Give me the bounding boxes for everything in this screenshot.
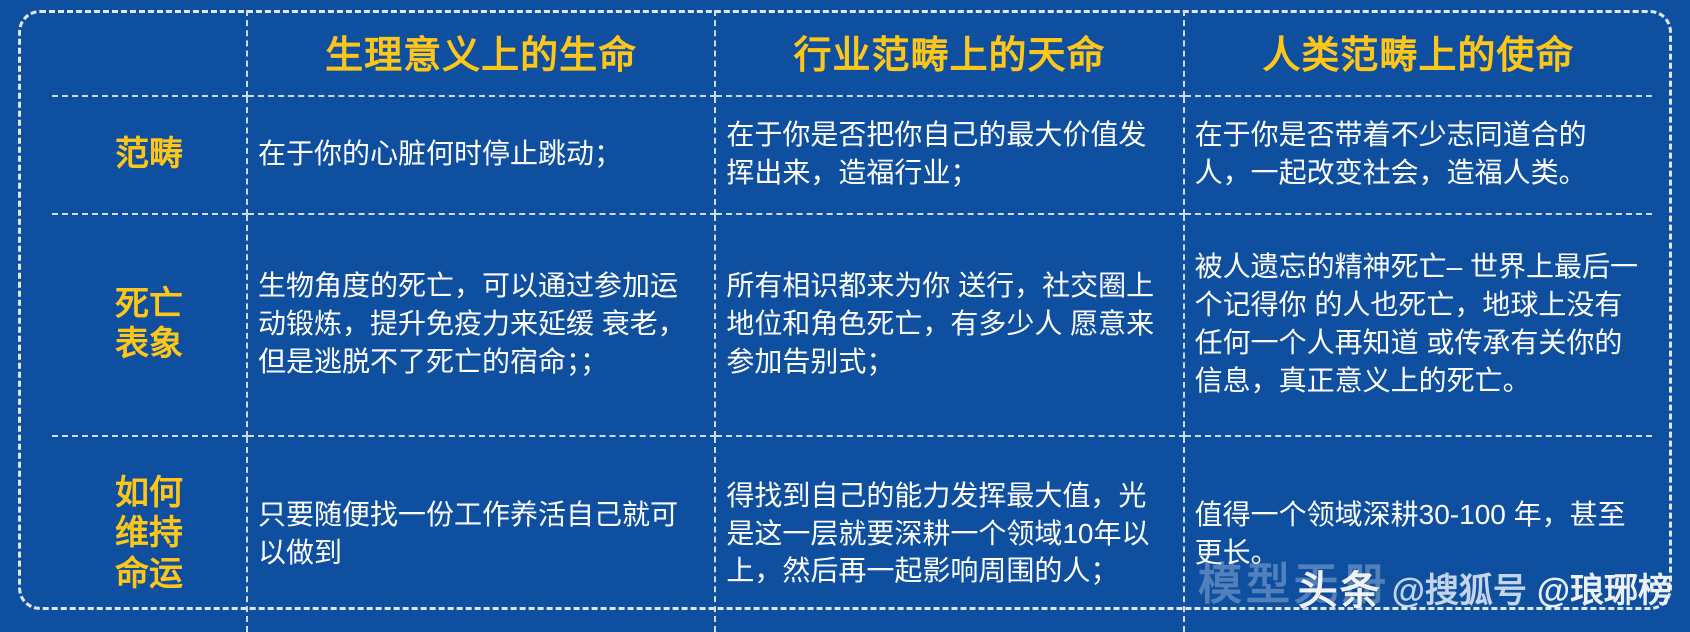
cell-scope-human: 在于你是否带着不少志同道合的人，一起改变社会，造福人类。 <box>1184 96 1652 214</box>
row-header-death-appearance: 死亡 表象 <box>52 214 247 436</box>
cell-death-human: 被人遗忘的精神死亡– 世界上最后一个记得你 的人也死亡，地球上没有任何一个人再知… <box>1184 214 1652 436</box>
row-header-line-1: 死亡 <box>62 284 236 324</box>
cell-sustain-biological: 只要随便找一份工作养活自己就可以做到 <box>247 436 715 632</box>
table-row: 如何 维持 命运 只要随便找一份工作养活自己就可以做到 得找到自己的能力发挥最大… <box>52 436 1652 632</box>
row-header-how-to-sustain: 如何 维持 命运 <box>52 436 247 632</box>
table-corner-cell <box>52 10 247 96</box>
row-header-line-2: 维持 <box>62 513 236 553</box>
table-header-row: 生理意义上的生命 行业范畴上的天命 人类范畴上的使命 <box>52 10 1652 96</box>
comparison-table-container: 生理意义上的生命 行业范畴上的天命 人类范畴上的使命 范畴 在于你的心脏何时停止… <box>52 10 1652 610</box>
cell-scope-industry: 在于你是否把你自己的最大价值发挥出来，造福行业； <box>715 96 1183 214</box>
row-header-line-2: 表象 <box>62 324 236 364</box>
cell-scope-biological: 在于你的心脏何时停止跳动； <box>247 96 715 214</box>
column-header-industry-mission: 行业范畴上的天命 <box>715 10 1183 96</box>
row-header-line-1: 如何 <box>62 473 236 513</box>
column-header-human-mission: 人类范畴上的使命 <box>1184 10 1652 96</box>
table-row: 死亡 表象 生物角度的死亡，可以通过参加运动锻炼，提升免疫力来延缓 衰老，但是逃… <box>52 214 1652 436</box>
table-row: 范畴 在于你的心脏何时停止跳动； 在于你是否把你自己的最大价值发挥出来，造福行业… <box>52 96 1652 214</box>
cell-sustain-industry: 得找到自己的能力发挥最大值，光是这一层就要深耕一个领域10年以上，然后再一起影响… <box>715 436 1183 632</box>
cell-death-biological: 生物角度的死亡，可以通过参加运动锻炼，提升免疫力来延缓 衰老，但是逃脱不了死亡的… <box>247 214 715 436</box>
row-header-scope: 范畴 <box>52 96 247 214</box>
comparison-table: 生理意义上的生命 行业范畴上的天命 人类范畴上的使命 范畴 在于你的心脏何时停止… <box>52 10 1652 632</box>
cell-sustain-human: 值得一个领域深耕30-100 年，甚至更长。 <box>1184 436 1652 632</box>
cell-death-industry: 所有相识都来为你 送行，社交圈上地位和角色死亡，有多少人 愿意来参加告别式； <box>715 214 1183 436</box>
row-header-line-3: 命运 <box>62 554 236 594</box>
column-header-biological-life: 生理意义上的生命 <box>247 10 715 96</box>
